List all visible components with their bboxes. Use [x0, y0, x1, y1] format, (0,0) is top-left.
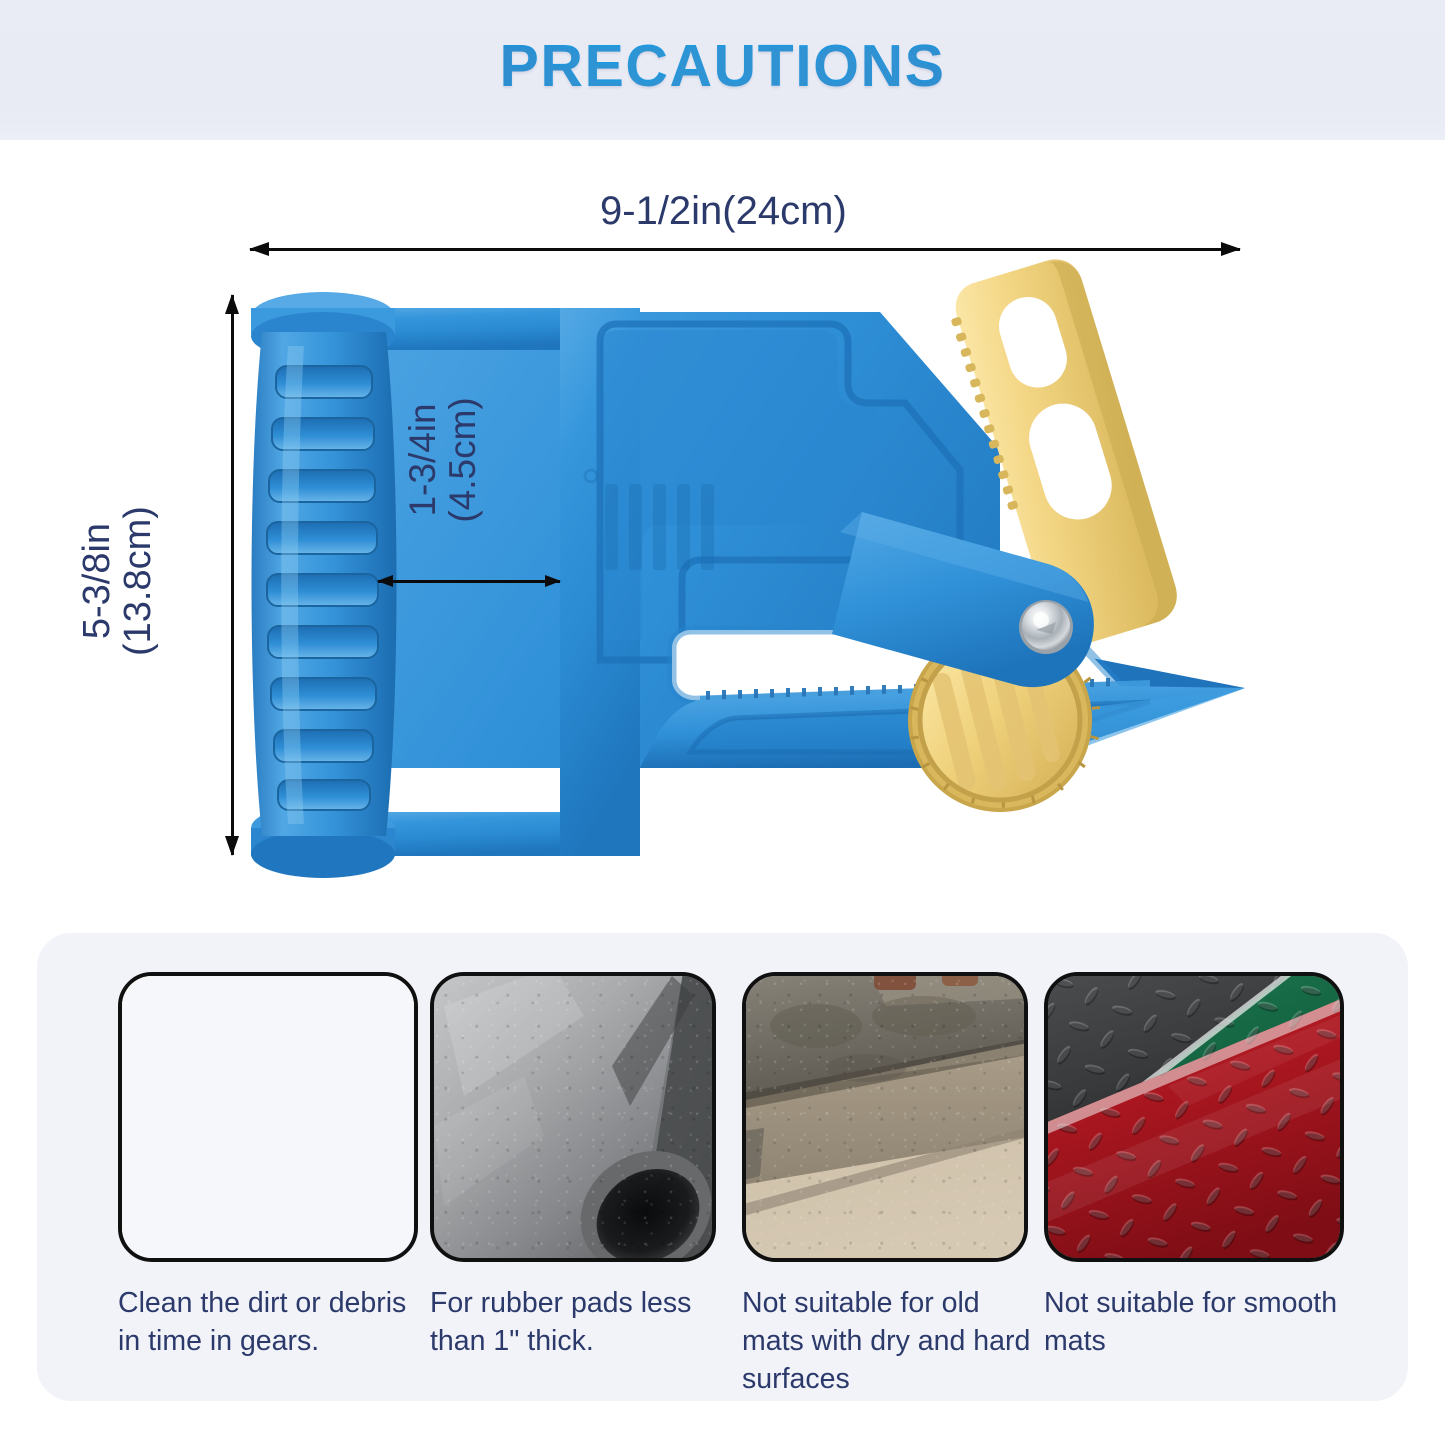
infographic-page: PRECAUTIONS [0, 0, 1445, 1435]
inner-width-dimension-label: 1-3/4in (4.5cm) [403, 355, 483, 565]
precaution-caption-1: Clean the dirt or debris in time in gear… [118, 1285, 418, 1361]
precaution-item-4: Not suitable for smooth mats [1044, 972, 1344, 1361]
precaution-thumbnail-row: Clean the dirt or debris in time in gear… [37, 933, 1408, 1401]
height-dimension-arrow [231, 295, 234, 855]
precaution-item-2: For rubber pads less than 1" thick. [430, 972, 730, 1361]
old-mat-on-concrete-image [742, 972, 1028, 1262]
height-dimension-line-1: 5-3/8in [77, 421, 118, 741]
height-dimension-label: 5-3/8in (13.8cm) [77, 421, 159, 741]
height-dimension-line-2: (13.8cm) [118, 421, 159, 741]
precaution-item-1: Clean the dirt or debris in time in gear… [118, 972, 418, 1361]
precautions-panel: Clean the dirt or debris in time in gear… [37, 933, 1408, 1401]
precaution-caption-3: Not suitable for old mats with dry and h… [742, 1285, 1042, 1399]
width-dimension-arrow [250, 248, 1240, 251]
precaution-caption-2: For rubber pads less than 1" thick. [430, 1285, 730, 1361]
page-title: PRECAUTIONS [0, 32, 1445, 100]
tool-handle [251, 292, 397, 878]
product-diagram: 9-1/2in(24cm) 5-3/8in (13.8cm) 1-3/4in (… [0, 140, 1445, 930]
inner-width-dimension-arrow [378, 580, 560, 583]
pivot-bolt [1019, 600, 1073, 654]
inner-width-line-1: 1-3/4in [403, 355, 443, 565]
precaution-caption-4: Not suitable for smooth mats [1044, 1285, 1344, 1361]
diamond-plate-mats-image [1044, 972, 1344, 1262]
precaution-item-3: Not suitable for old mats with dry and h… [742, 972, 1042, 1399]
width-dimension-label: 9-1/2in(24cm) [600, 190, 847, 233]
mat-mover-tool-illustration [0, 140, 1445, 930]
gear-teeth-closeup-image [118, 972, 418, 1262]
inner-width-line-2: (4.5cm) [443, 355, 483, 565]
rolled-rubber-sheet-image [430, 972, 716, 1262]
